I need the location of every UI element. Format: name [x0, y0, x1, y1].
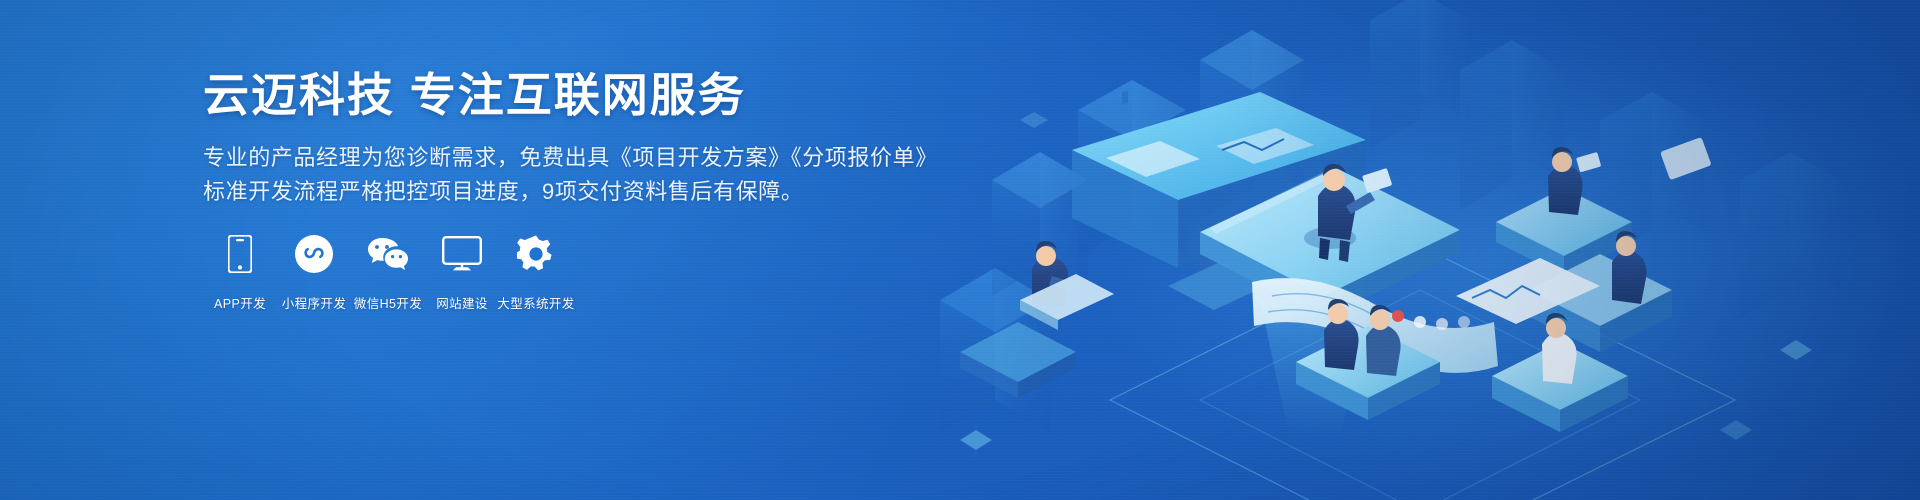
service-label: 微信H5开发	[354, 293, 422, 312]
subtitle-line-2: 标准开发流程严格把控项目进度，9项交付资料售后有保障。	[203, 175, 923, 209]
page-title: 云迈科技 专注互联网服务	[203, 68, 923, 122]
subtitle-line-1: 专业的产品经理为您诊断需求，免费出具《项目开发方案》《分项报价单》	[203, 141, 923, 175]
service-label: 网站建设	[436, 293, 488, 312]
service-item-wechat-h5[interactable]: 微信H5开发	[351, 232, 425, 312]
hero-subtitle: 专业的产品经理为您诊断需求，免费出具《项目开发方案》《分项报价单》 标准开发流程…	[203, 141, 923, 209]
hero-copy: 云迈科技 专注互联网服务 专业的产品经理为您诊断需求，免费出具《项目开发方案》《…	[203, 68, 923, 209]
gear-icon	[517, 232, 555, 276]
service-item-website[interactable]: 网站建设	[425, 232, 499, 312]
mini-program-icon	[295, 232, 333, 276]
mobile-phone-icon	[228, 232, 252, 276]
service-item-large-system[interactable]: 大型系统开发	[499, 232, 573, 312]
isometric-illustration	[900, 0, 1920, 500]
hero-banner: 云迈科技 专注互联网服务 专业的产品经理为您诊断需求，免费出具《项目开发方案》《…	[0, 0, 1920, 500]
service-item-mini-program[interactable]: 小程序开发	[277, 232, 351, 312]
person-right-mid	[1612, 231, 1647, 304]
service-list: APP开发 小程序开发 微信	[203, 232, 573, 312]
service-label: APP开发	[214, 293, 266, 312]
service-label: 大型系统开发	[497, 293, 574, 312]
illustration-svg	[900, 0, 1920, 500]
service-label: 小程序开发	[282, 293, 347, 312]
wechat-icon	[366, 232, 410, 276]
monitor-icon	[442, 232, 482, 276]
service-item-app[interactable]: APP开发	[203, 232, 277, 312]
